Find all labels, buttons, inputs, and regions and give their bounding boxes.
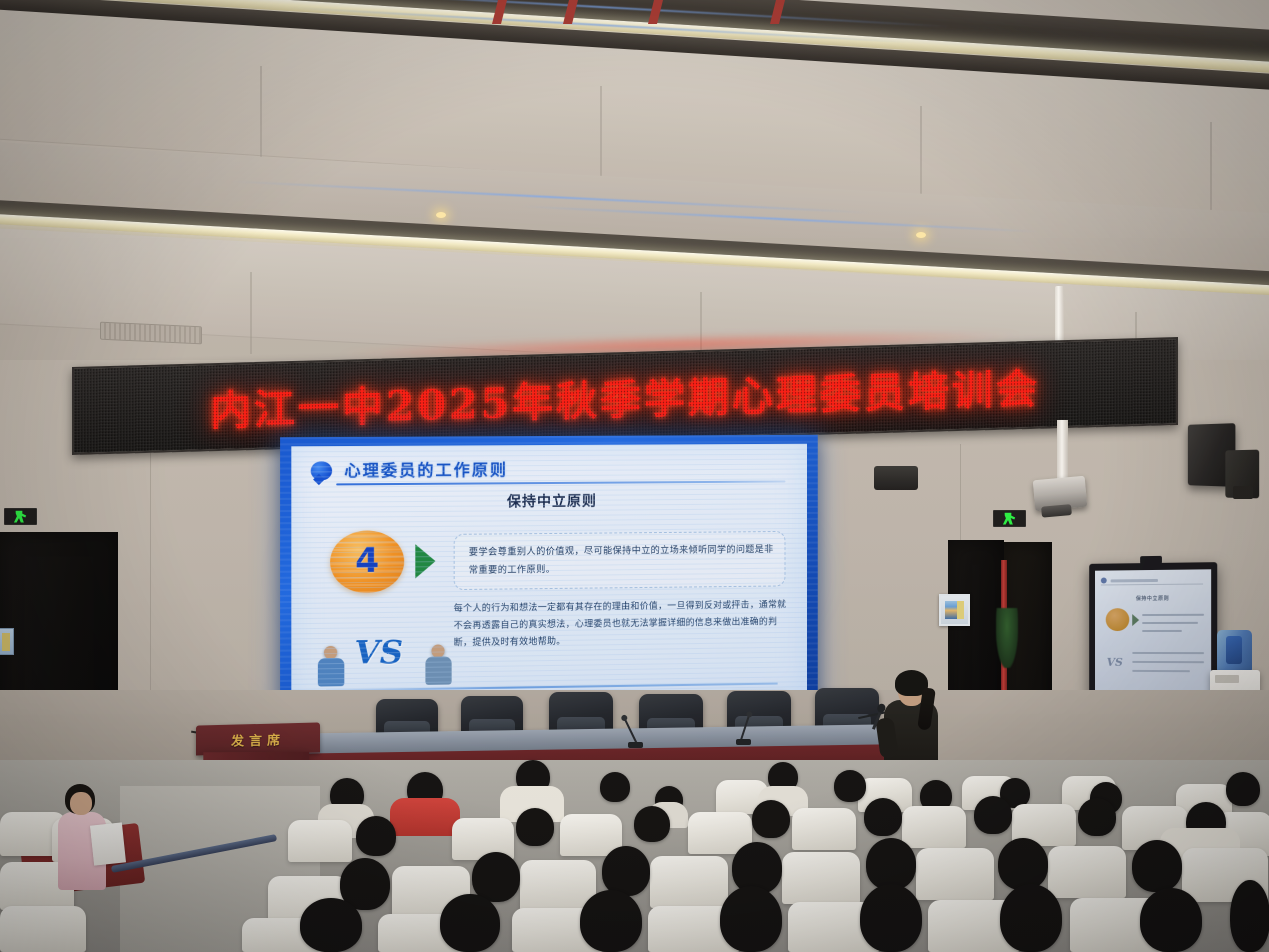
water-bottle bbox=[1217, 630, 1252, 672]
panel-text-line-5 bbox=[1132, 661, 1204, 663]
projector bbox=[1033, 476, 1088, 511]
projector-pole bbox=[1057, 420, 1068, 484]
panel-bullet-dot-icon bbox=[1101, 578, 1107, 584]
panel-number-badge bbox=[1106, 608, 1130, 631]
audience-head bbox=[1140, 888, 1202, 952]
panel-camera-icon bbox=[1140, 556, 1162, 564]
arrow-right-icon bbox=[415, 544, 435, 578]
audience-head bbox=[1226, 772, 1260, 806]
slide-number-badge: 4 bbox=[330, 530, 404, 593]
vs-person-left-icon bbox=[318, 646, 344, 687]
audience-head bbox=[634, 806, 670, 842]
door-sign-inner bbox=[2, 633, 10, 651]
lecture-hall-photo: 内江一中2025年秋季学期心理委员培训会 心理委员的工作原则 保持中立原则 4 … bbox=[0, 0, 1269, 952]
door-sign-plate bbox=[0, 628, 14, 655]
slide-number-badge-text: 4 bbox=[330, 541, 404, 582]
audience-seat bbox=[650, 856, 728, 908]
audience-head bbox=[1078, 798, 1116, 836]
audience-seat bbox=[782, 852, 860, 904]
running-man-icon bbox=[1002, 513, 1017, 525]
standing-student-paper bbox=[90, 822, 126, 865]
ceiling-downlight-2 bbox=[916, 232, 926, 238]
table-microphone-base bbox=[628, 742, 643, 748]
running-man-icon bbox=[13, 511, 28, 523]
speaker-bracket bbox=[1233, 486, 1253, 499]
wall-seam-left bbox=[150, 440, 151, 700]
audience-head bbox=[1132, 840, 1182, 892]
audience-seat bbox=[792, 808, 856, 850]
slide-header: 心理委员的工作原则 bbox=[308, 454, 788, 487]
exit-sign-left bbox=[4, 508, 37, 525]
audience-seat bbox=[916, 848, 994, 900]
audience-head bbox=[834, 770, 866, 802]
slide-subtitle: 保持中立原则 bbox=[291, 489, 807, 513]
panel-text-line-6 bbox=[1132, 670, 1190, 672]
wall-picture-accent bbox=[957, 601, 964, 619]
vs-person-right-body bbox=[425, 656, 451, 685]
potted-plant bbox=[996, 608, 1018, 668]
slide-callout-text: 要学会尊重别人的价值观，尽可能保持中立的立场来倾听同学的问题是非常重要的工作原则… bbox=[469, 541, 775, 580]
panel-text-line-4 bbox=[1132, 652, 1204, 654]
audience-seat bbox=[0, 906, 86, 952]
standing-student-face bbox=[70, 792, 92, 815]
slide-header-rule bbox=[336, 480, 785, 485]
audience-head bbox=[1230, 880, 1269, 952]
slide-header-title: 心理委员的工作原则 bbox=[344, 456, 508, 481]
audience-shirt-red bbox=[390, 798, 460, 836]
projection-screen: 心理委员的工作原则 保持中立原则 4 要学会尊重别人的价值观，尽可能保持中立的立… bbox=[280, 435, 818, 719]
audience-head bbox=[1000, 884, 1062, 952]
panel-slide-subtitle: 保持中立原则 bbox=[1095, 595, 1211, 603]
bullet-dot-icon bbox=[311, 461, 332, 480]
audience-head bbox=[720, 886, 782, 952]
wall-picture-frame bbox=[939, 594, 970, 626]
podium-label: 发言席 bbox=[196, 728, 320, 750]
exit-sign-right bbox=[993, 510, 1026, 527]
slide-callout-box: 要学会尊重别人的价值观，尽可能保持中立的立场来倾听同学的问题是非常重要的工作原则… bbox=[454, 531, 786, 590]
vs-person-left-body bbox=[318, 658, 344, 687]
table-microphone-base bbox=[736, 739, 751, 745]
audience-head bbox=[440, 894, 500, 952]
panel-text-line-1 bbox=[1142, 614, 1204, 616]
audience-head bbox=[300, 898, 362, 952]
slide-body-paragraph: 每个人的行为和想法一定都有其存在的理由和价值，一旦得到反对或抨击，通常就不会再透… bbox=[454, 597, 790, 652]
audience-head bbox=[752, 800, 790, 838]
panel-arrow-right-icon bbox=[1132, 614, 1139, 626]
ceiling-speaker-icon bbox=[874, 466, 918, 490]
audience-seat bbox=[288, 820, 352, 862]
audience-head bbox=[864, 798, 902, 836]
ceiling-downlight-1 bbox=[436, 212, 446, 218]
presentation-slide: 心理委员的工作原则 保持中立原则 4 要学会尊重别人的价值观，尽可能保持中立的立… bbox=[291, 444, 807, 704]
panel-text-line-3 bbox=[1142, 630, 1182, 632]
podium-top: 发言席 bbox=[196, 722, 320, 755]
vs-person-right-icon bbox=[425, 644, 451, 685]
audience-head bbox=[516, 808, 554, 846]
audience-seat bbox=[902, 806, 966, 848]
panel-text-line-2 bbox=[1142, 622, 1198, 624]
audience-head bbox=[974, 796, 1012, 834]
audience-head bbox=[356, 816, 396, 856]
vs-label: VS bbox=[354, 633, 403, 672]
panel-header-line bbox=[1111, 579, 1158, 582]
audience-head bbox=[866, 838, 916, 890]
audience-head bbox=[998, 838, 1048, 890]
panel-slide-header bbox=[1101, 575, 1203, 585]
audience-head bbox=[860, 884, 922, 952]
water-dispenser-label bbox=[1215, 675, 1239, 683]
led-banner-text: 内江一中2025年秋季学期心理委员培训会 bbox=[210, 355, 1040, 437]
audience-head bbox=[580, 890, 642, 952]
slide-vs-graphic: VS bbox=[318, 628, 452, 686]
ceiling-seam-5 bbox=[250, 272, 252, 354]
audience-head bbox=[600, 772, 630, 802]
audience-head bbox=[602, 846, 650, 896]
audience-seat bbox=[1048, 846, 1126, 898]
panel-screen: 保持中立原则 VS bbox=[1095, 569, 1211, 702]
panel-vs-label: VS bbox=[1107, 656, 1123, 669]
